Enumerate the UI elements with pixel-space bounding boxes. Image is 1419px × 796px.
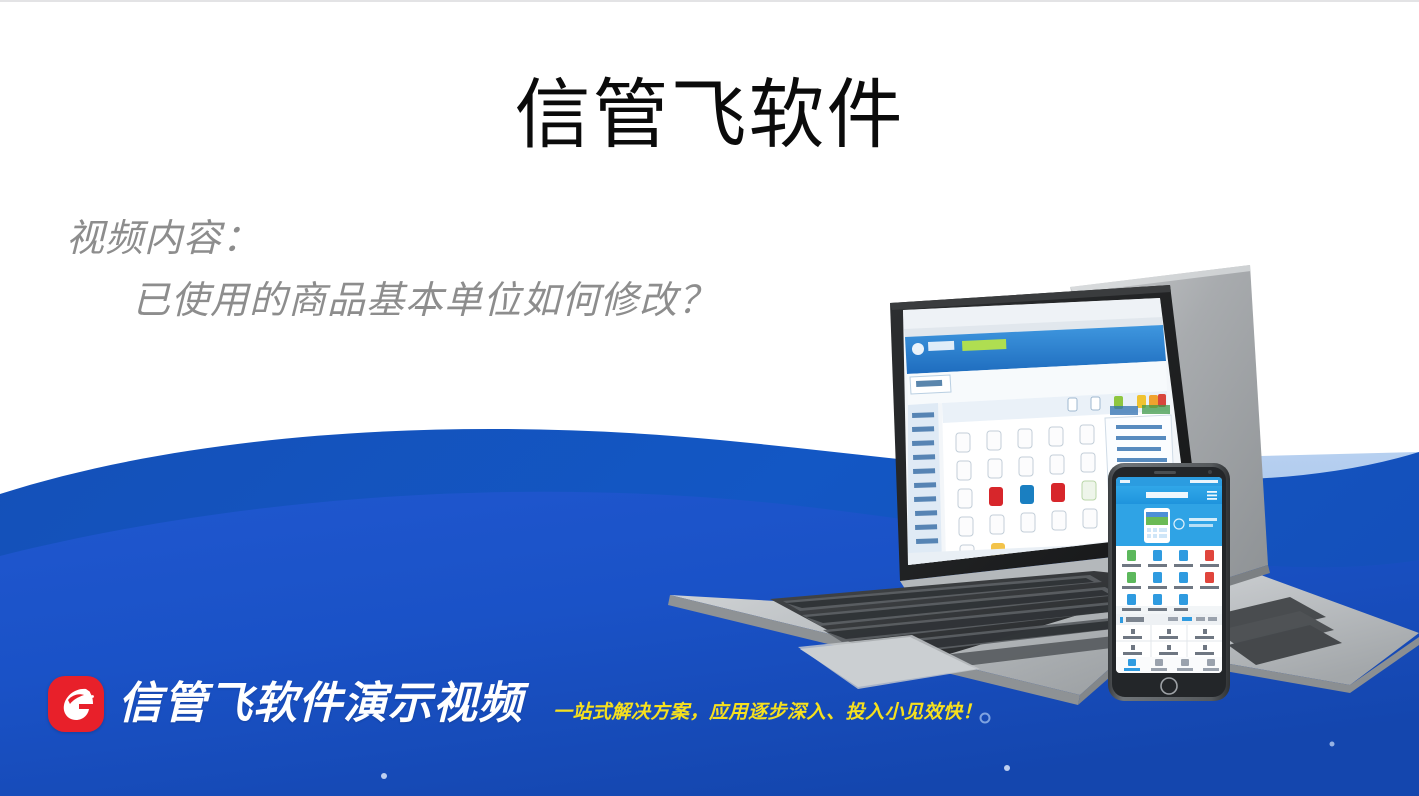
- hamburger-menu-icon: [1207, 491, 1217, 500]
- page-title: 信管飞软件: [0, 60, 1419, 170]
- decor-dot: [1004, 765, 1010, 771]
- phone-device: [1108, 463, 1230, 701]
- brand-tagline: 一站式解决方案，应用逐步深入、投入小见效快！: [553, 700, 982, 724]
- decor-dot: [1330, 742, 1335, 747]
- phone-screen-content: [1116, 477, 1222, 673]
- decor-dot: [381, 773, 387, 779]
- presentation-slide: 信管飞软件 视频内容： 已使用的商品基本单位如何修改？: [0, 0, 1419, 796]
- brand-name: 信管飞软件演示视频: [118, 679, 523, 729]
- video-content-label: 视频内容：: [66, 212, 826, 264]
- footer-brand: 信管飞软件演示视频 一站式解决方案，应用逐步深入、投入小见效快！: [48, 676, 982, 732]
- device-illustration: [650, 265, 1419, 710]
- bird-swoosh-logo-icon: [48, 676, 104, 732]
